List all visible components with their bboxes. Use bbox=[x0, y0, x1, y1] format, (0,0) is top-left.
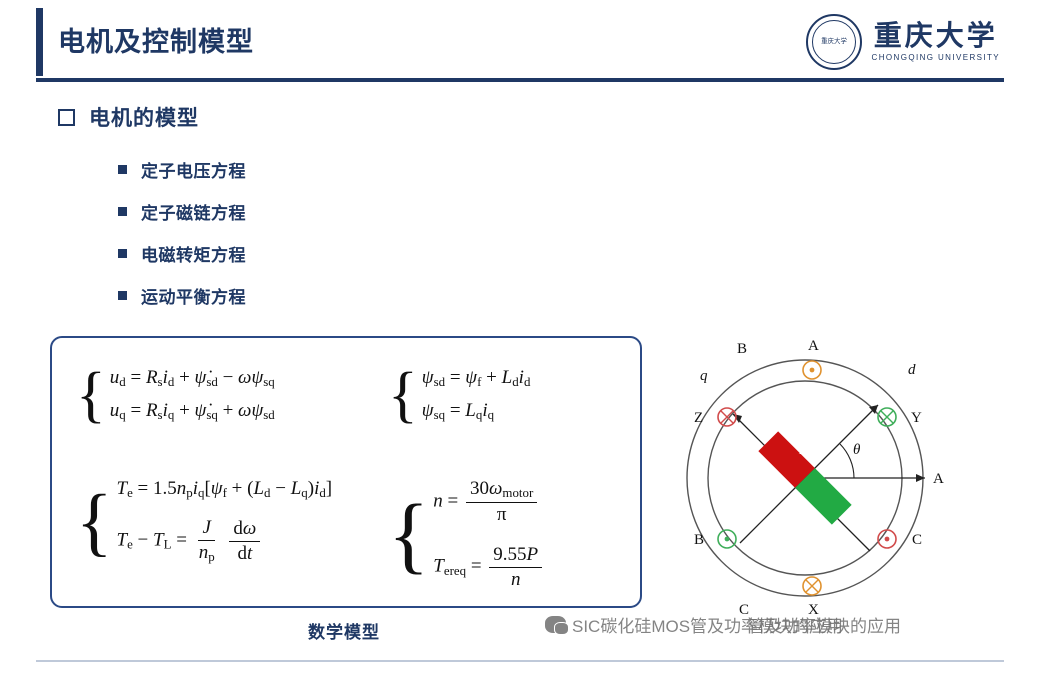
left-brace-icon: { bbox=[388, 491, 429, 577]
watermark-text-overlap: 管及功率模块的应用 bbox=[748, 612, 901, 637]
label-Z: Z bbox=[694, 410, 703, 426]
label-q-axis: q bbox=[700, 368, 708, 384]
label-theta: θ bbox=[853, 442, 861, 458]
list-item-label: 定子磁链方程 bbox=[141, 199, 246, 224]
header-divider bbox=[36, 78, 1004, 82]
label-A-top: A bbox=[808, 338, 819, 354]
theta-arc bbox=[840, 444, 854, 478]
university-name: 重庆大学 CHONGQING UNIVERSITY bbox=[872, 22, 1000, 62]
left-brace-icon: { bbox=[76, 364, 106, 426]
section-heading: 电机的模型 bbox=[58, 102, 199, 132]
slot-marker-dot-center bbox=[725, 537, 730, 542]
equation: Te − TL = Jnp dωdt bbox=[116, 517, 332, 565]
left-brace-icon: { bbox=[76, 484, 112, 560]
label-C-right: C bbox=[912, 532, 922, 548]
equation: ψsd = ψf + Ldid bbox=[422, 367, 531, 390]
university-seal-text: 重庆大学 bbox=[821, 39, 847, 46]
university-seal-icon: 重庆大学 bbox=[806, 14, 862, 70]
square-bullet-icon bbox=[118, 291, 127, 300]
university-name-en: CHONGQING UNIVERSITY bbox=[872, 53, 1000, 62]
section-title: 电机的模型 bbox=[89, 102, 199, 132]
list-item: 定子磁链方程 bbox=[118, 190, 246, 232]
label-B-bottom: B bbox=[694, 532, 704, 548]
equation: ψsq = Lqiq bbox=[422, 400, 531, 423]
footer-divider bbox=[36, 660, 1004, 662]
square-bullet-icon bbox=[118, 249, 127, 258]
equation: Tereq = 9.55Pn bbox=[433, 544, 545, 591]
formula-group-torque: { Te = 1.5npiq[ψf + (Ld − Lq)id] Te − TL… bbox=[76, 478, 332, 565]
list-item-label: 运动平衡方程 bbox=[141, 283, 246, 308]
pole-s-label: S bbox=[792, 501, 799, 516]
title-accent-bar bbox=[36, 8, 43, 76]
label-A-right: A bbox=[933, 471, 944, 487]
slot-marker-dot-center bbox=[810, 368, 815, 373]
university-name-cn: 重庆大学 bbox=[874, 22, 998, 51]
equation: n = 30ωmotorπ bbox=[433, 478, 545, 526]
equation: ud = Rsid + ψ̇sd − ωψsq bbox=[110, 367, 275, 390]
list-item: 电磁转矩方程 bbox=[118, 232, 246, 274]
list-item: 运动平衡方程 bbox=[118, 274, 246, 316]
label-Y: Y bbox=[911, 410, 922, 426]
motor-diagram-svg: N S B A q bbox=[640, 326, 1010, 626]
formula-panel: { ud = Rsid + ψ̇sd − ωψsq uq = Rsiq + ψ̇… bbox=[50, 336, 642, 608]
formula-group-speed: { n = 30ωmotorπ Tereq = 9.55Pn bbox=[388, 478, 545, 591]
wechat-icon bbox=[545, 616, 566, 633]
formula-group-flux: { ψsd = ψf + Ldid ψsq = Lqiq bbox=[388, 364, 530, 426]
equation: uq = Rsiq + ψ̇sq + ωψsd bbox=[110, 400, 275, 423]
list-item-label: 电磁转矩方程 bbox=[141, 241, 246, 266]
pole-n-label: N bbox=[798, 442, 809, 457]
list-item-label: 定子电压方程 bbox=[141, 157, 246, 182]
bullet-list: 定子电压方程 定子磁链方程 电磁转矩方程 运动平衡方程 bbox=[118, 148, 246, 316]
university-logo: 重庆大学 重庆大学 CHONGQING UNIVERSITY bbox=[806, 14, 1000, 70]
page-title: 电机及控制模型 bbox=[58, 20, 254, 59]
formula-group-voltage: { ud = Rsid + ψ̇sd − ωψsq uq = Rsiq + ψ̇… bbox=[76, 364, 275, 426]
list-item: 定子电压方程 bbox=[118, 148, 246, 190]
square-bullet-icon bbox=[118, 165, 127, 174]
slide: 电机及控制模型 重庆大学 重庆大学 CHONGQING UNIVERSITY 电… bbox=[0, 0, 1040, 678]
square-outline-bullet-icon bbox=[58, 109, 75, 126]
equation: Te = 1.5npiq[ψf + (Ld − Lq)id] bbox=[116, 478, 332, 501]
slot-marker-dot-center bbox=[885, 537, 890, 542]
label-d-axis: d bbox=[908, 362, 916, 378]
left-brace-icon: { bbox=[388, 364, 418, 426]
motor-cross-section-diagram: N S B A q bbox=[640, 326, 1010, 626]
square-bullet-icon bbox=[118, 207, 127, 216]
label-B-top: B bbox=[737, 341, 747, 357]
